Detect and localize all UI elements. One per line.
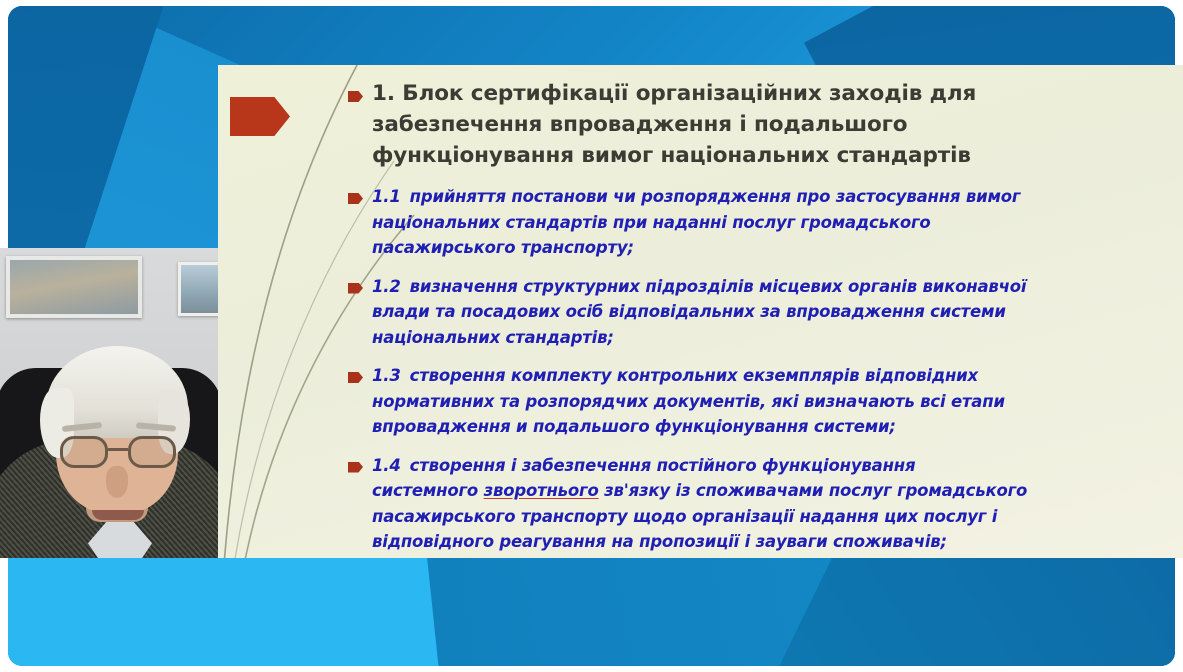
speaker-nose bbox=[106, 466, 128, 498]
video-call-stage: 1. Блок сертифікації організаційних захо… bbox=[0, 0, 1183, 672]
item-1-4-line-2: системного зворотнього зв'язку із спожив… bbox=[372, 478, 1108, 504]
item-bullet-1-1 bbox=[348, 184, 372, 261]
title-line-3: функціонування вимог національних станда… bbox=[372, 140, 1108, 171]
item-1-4-line-2-a: системного bbox=[372, 481, 484, 500]
arrow-bullet-icon bbox=[348, 462, 363, 473]
item-1-1-line-1: 1.1прийняття постанови чи розпорядження … bbox=[372, 184, 1108, 210]
item-1-4-line-2-b: зв'язку із споживачами послуг громадсько… bbox=[599, 481, 1028, 500]
title-line-2: забезпечення впровадження і подальшого bbox=[372, 109, 1108, 140]
speaker-glasses bbox=[58, 436, 178, 470]
item-1-3-line-1-text: створення комплекту контрольних екземпля… bbox=[410, 366, 978, 385]
slide-item-1-2: 1.2визначення структурних підрозділів мі… bbox=[348, 274, 1108, 351]
slide-text-body: 1. Блок сертифікації організаційних захо… bbox=[348, 78, 1108, 557]
title-bullet bbox=[348, 78, 372, 171]
item-bullet-1-3 bbox=[348, 363, 372, 440]
item-1-3-line-2: нормативних та розпорядчих документів, я… bbox=[372, 389, 1108, 415]
item-1-4-line-4: відповідного реагування на пропозиції і … bbox=[372, 529, 1108, 555]
item-1-1-text: 1.1прийняття постанови чи розпорядження … bbox=[372, 184, 1108, 261]
item-1-1-line-2: національних стандартів при наданні посл… bbox=[372, 210, 1108, 236]
item-1-2-text: 1.2визначення структурних підрозділів мі… bbox=[372, 274, 1108, 351]
item-1-4-text: 1.4створення і забезпечення постійного ф… bbox=[372, 453, 1108, 555]
slide-item-1-1: 1.1прийняття постанови чи розпорядження … bbox=[348, 184, 1108, 261]
arrow-bullet-icon bbox=[348, 372, 363, 383]
item-1-1-line-3: пасажирського транспорту; bbox=[372, 235, 1108, 261]
item-1-3-line-1: 1.3створення комплекту контрольних екзем… bbox=[372, 363, 1108, 389]
slide-item-1-4: 1.4створення і забезпечення постійного ф… bbox=[348, 453, 1108, 555]
speaker-video-tile[interactable] bbox=[0, 248, 218, 558]
item-1-2-line-3: національних стандартів; bbox=[372, 325, 1108, 351]
item-1-4-line-1: 1.4створення і забезпечення постійного ф… bbox=[372, 453, 1108, 479]
spellcheck-underlined-word: зворотнього bbox=[484, 481, 599, 500]
item-1-1-line-1-text: прийняття постанови чи розпорядження про… bbox=[410, 187, 1021, 206]
speaker-mouth bbox=[92, 510, 144, 520]
item-bullet-1-4 bbox=[348, 453, 372, 555]
slide-item-1-3: 1.3створення комплекту контрольних екзем… bbox=[348, 363, 1108, 440]
arrow-bullet-icon bbox=[348, 283, 363, 294]
wall-picture-frame-large bbox=[6, 256, 142, 318]
item-1-1-number: 1.1 bbox=[372, 187, 401, 206]
item-1-2-line-2: влади та посадових осіб відповідальних з… bbox=[372, 299, 1108, 325]
title-line-1: 1. Блок сертифікації організаційних захо… bbox=[372, 78, 1108, 109]
glasses-bridge bbox=[108, 448, 128, 451]
item-1-2-number: 1.2 bbox=[372, 277, 401, 296]
slide-title-block: 1. Блок сертифікації організаційних захо… bbox=[348, 78, 1108, 171]
arrow-bullet-icon bbox=[348, 193, 363, 204]
arrow-bullet-icon bbox=[348, 91, 363, 102]
item-1-2-line-1: 1.2визначення структурних підрозділів мі… bbox=[372, 274, 1108, 300]
item-1-3-text: 1.3створення комплекту контрольних екзем… bbox=[372, 363, 1108, 440]
item-1-2-line-1-text: визначення структурних підрозділів місце… bbox=[410, 277, 1027, 296]
item-1-4-number: 1.4 bbox=[372, 456, 401, 475]
item-1-3-number: 1.3 bbox=[372, 366, 401, 385]
wall-picture-frame-small bbox=[178, 262, 218, 316]
slide-title-text: 1. Блок сертифікації організаційних захо… bbox=[372, 78, 1108, 171]
glasses-lens-left bbox=[60, 436, 108, 468]
item-1-4-line-3: пасажирського транспорту щодо організаці… bbox=[372, 504, 1108, 530]
item-1-4-line-1-text: створення і забезпечення постійного функ… bbox=[410, 456, 916, 475]
item-1-3-line-3: впровадження и подальшого функціонування… bbox=[372, 414, 1108, 440]
item-bullet-1-2 bbox=[348, 274, 372, 351]
glasses-lens-right bbox=[128, 436, 176, 468]
